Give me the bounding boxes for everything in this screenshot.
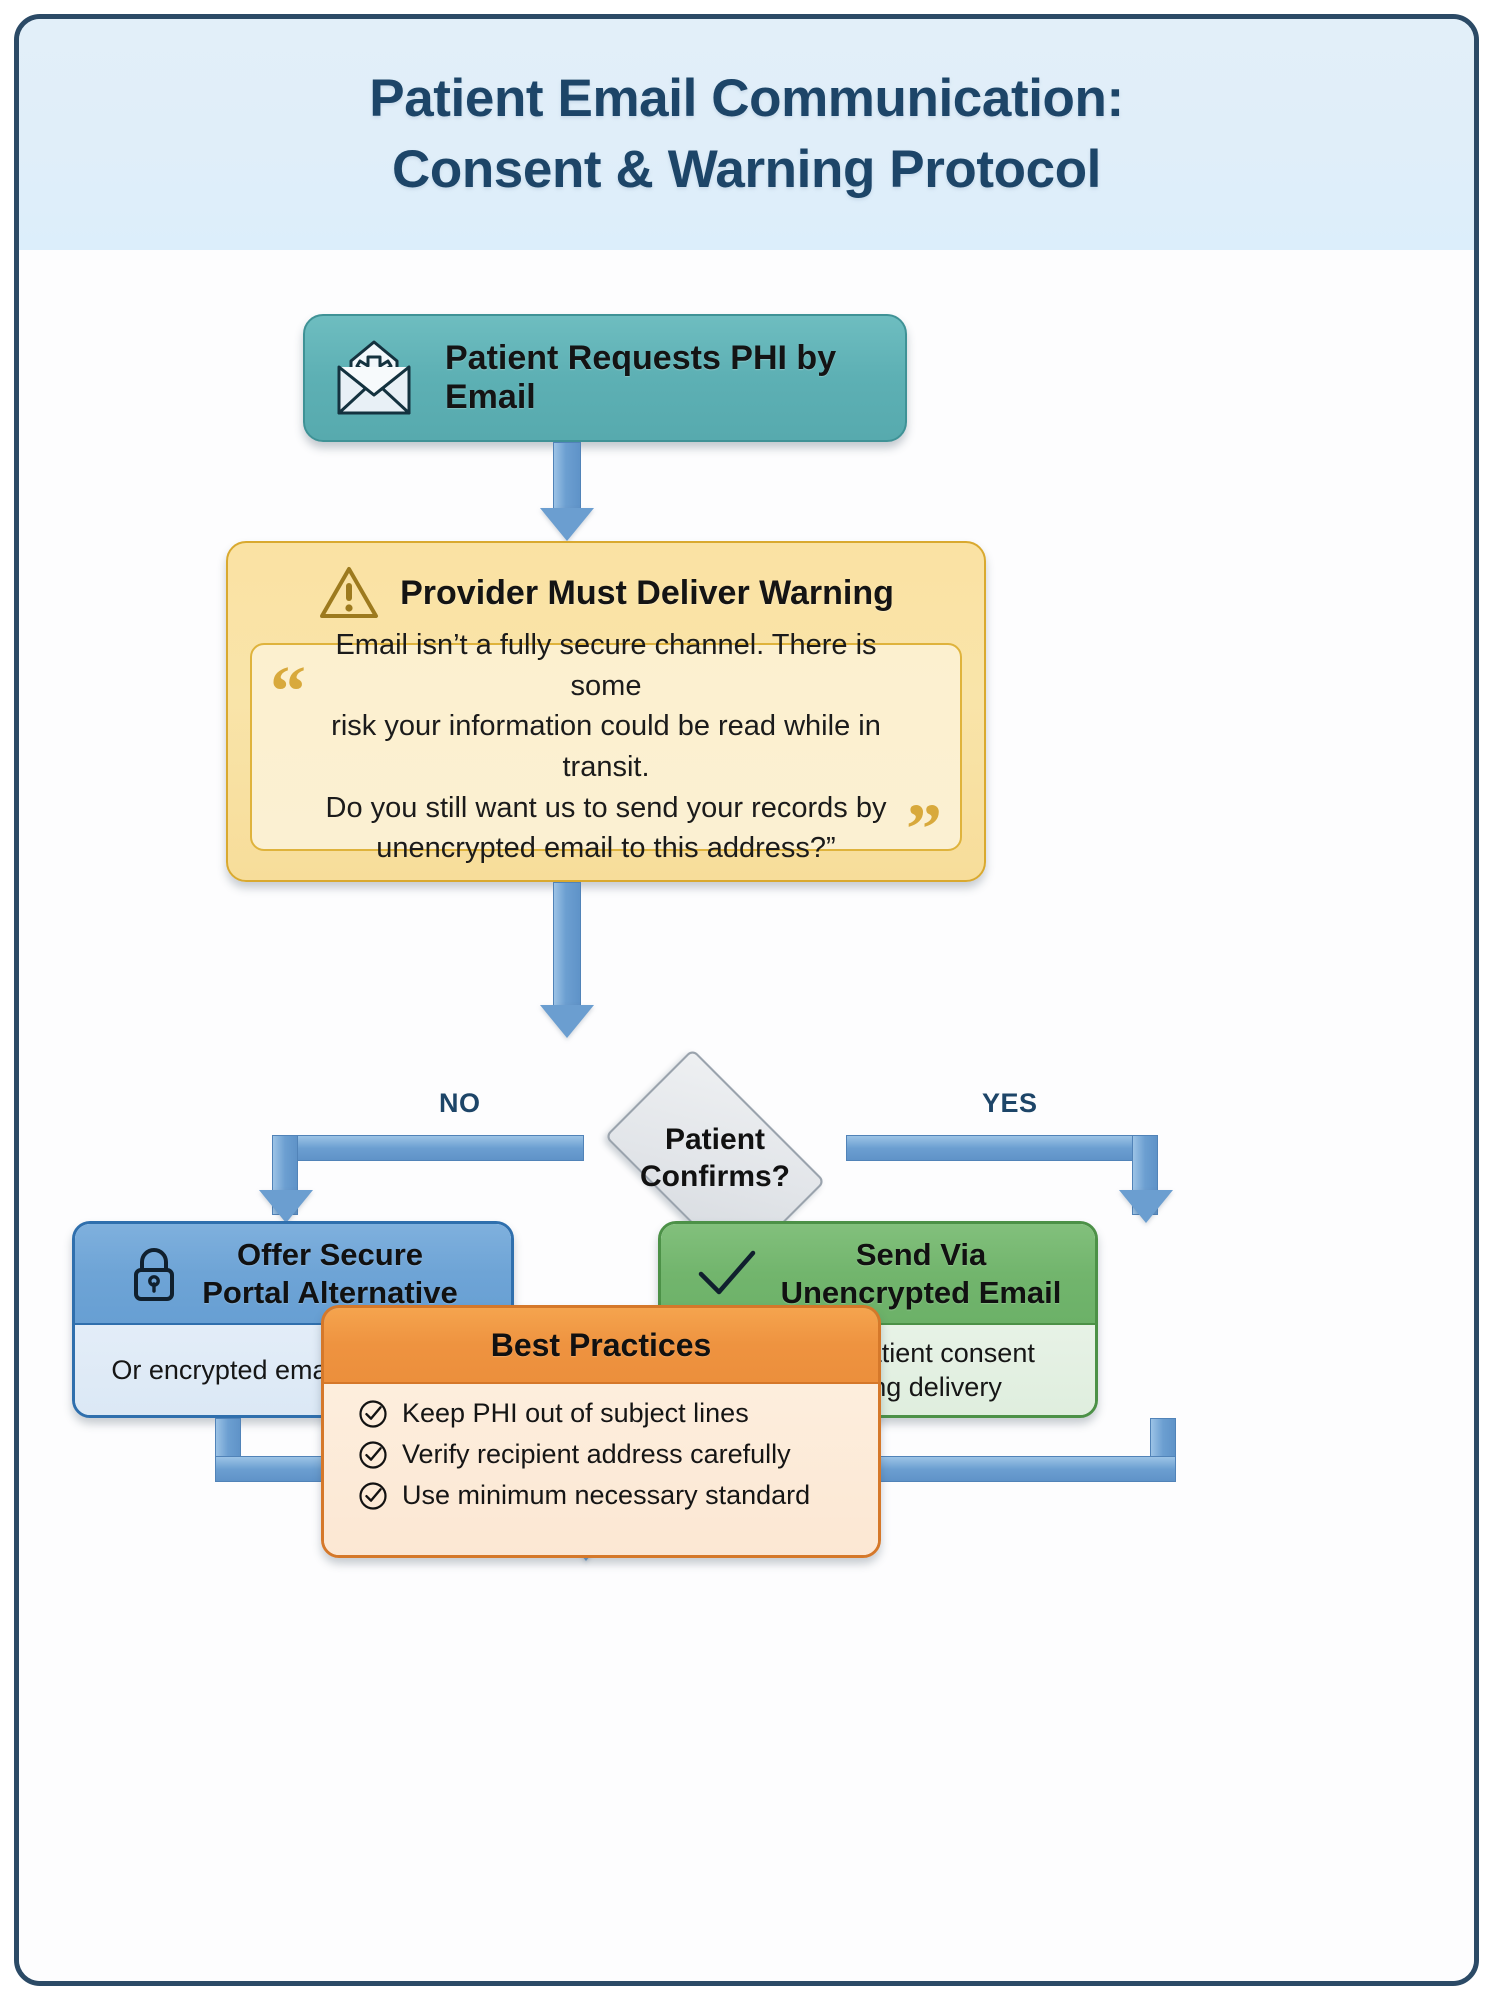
quote-close-icon: ” [906,793,942,865]
list-item: Verify recipient address carefully [358,1437,878,1472]
best-practice-text: Use minimum necessary standard [402,1478,810,1513]
quote-open-icon: “ [270,655,306,727]
medical-email-icon [331,337,417,419]
node-start-label: Patient Requests PHI by Email [445,339,905,417]
branch-label-no: NO [439,1088,481,1119]
page-title-line-2: Consent & Warning Protocol [392,135,1101,205]
flowchart-canvas: Patient Requests PHI by Email Provider M… [19,250,1479,1986]
node-warning-label: Provider Must Deliver Warning [400,574,894,613]
check-mark-icon [695,1245,759,1303]
padlock-icon [128,1243,180,1305]
best-practices-header: Best Practices [324,1308,878,1384]
best-practices-body: Keep PHI out of subject lines Verify rec… [324,1384,878,1558]
circle-check-icon [358,1399,388,1429]
list-item: Keep PHI out of subject lines [358,1396,878,1431]
node-decision-patient-confirms[interactable]: Patient Confirms? [582,1071,848,1247]
diagram-header: Patient Email Communication: Consent & W… [19,19,1474,250]
warning-triangle-icon [318,564,380,622]
circle-check-icon [358,1440,388,1470]
node-best-practices[interactable]: Best Practices Keep PHI out of subject l… [321,1305,881,1558]
page-title-line-1: Patient Email Communication: [369,64,1123,134]
node-decision-label: Patient Confirms? [582,1071,848,1247]
node-best-practices-title: Best Practices [491,1326,712,1364]
best-practice-text: Verify recipient address carefully [402,1437,791,1472]
warning-quote-box: “ Email isn’t a fully secure channel. Th… [250,643,962,851]
diagram-frame: Patient Email Communication: Consent & W… [14,14,1479,1986]
warning-quote-text: Email isn’t a fully secure channel. Ther… [252,625,960,869]
circle-check-icon [358,1481,388,1511]
node-send-title: Send Via Unencrypted Email [781,1236,1062,1310]
node-provider-warning[interactable]: Provider Must Deliver Warning “ Email is… [226,541,986,882]
node-portal-title: Offer Secure Portal Alternative [202,1236,458,1310]
list-item: Use minimum necessary standard [358,1478,878,1513]
branch-label-yes: YES [982,1088,1038,1119]
best-practice-text: Keep PHI out of subject lines [402,1396,749,1431]
node-patient-requests-phi[interactable]: Patient Requests PHI by Email [303,314,907,442]
